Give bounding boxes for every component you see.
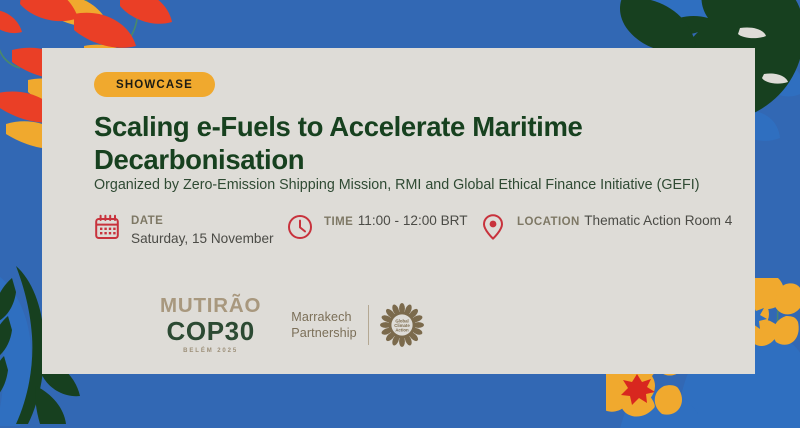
event-card: SHOWCASE Scaling e-Fuels to Accelerate M…: [42, 48, 755, 374]
mutirao-wordmark: MUTIRÃO: [160, 296, 261, 317]
page-title: Scaling e-Fuels to Accelerate Maritime D…: [94, 111, 709, 176]
belem-2025-text: BELÉM 2025: [160, 348, 261, 354]
global-climate-action-seal-icon: Global Climate Action: [380, 303, 424, 347]
meta-label-location: LOCATION: [517, 216, 580, 228]
status-badge: SHOWCASE: [94, 72, 215, 97]
organizer-text: Organized by Zero-Emission Shipping Miss…: [94, 176, 754, 195]
marrakech-line-1: Marrakech: [291, 309, 357, 325]
title-line-2: Decarbonisation: [94, 144, 304, 175]
meta-item-time: TIME 11:00 - 12:00 BRT: [285, 210, 478, 243]
clock-icon: [285, 211, 315, 243]
seal-line-3: Action: [395, 328, 409, 333]
cop30-wordmark: COP30: [160, 318, 261, 346]
event-banner: SHOWCASE Scaling e-Fuels to Accelerate M…: [0, 0, 800, 418]
meta-value-location: Thematic Action Room 4: [584, 213, 732, 228]
meta-value-date: Saturday, 15 November: [131, 231, 274, 246]
marrakech-partnership-logo: Marrakech Partnership: [291, 303, 424, 347]
calendar-icon: [92, 211, 122, 243]
event-meta-row: DATE Saturday, 15 November TIME 11:00 - …: [92, 210, 742, 248]
badge-label: SHOWCASE: [116, 79, 193, 91]
logo-row: MUTIRÃO COP30 BELÉM 2025 Marrakech Partn…: [160, 296, 424, 354]
meta-value-time: 11:00 - 12:00 BRT: [358, 213, 468, 228]
meta-item-date: DATE Saturday, 15 November: [92, 210, 285, 248]
location-pin-icon: [478, 211, 508, 243]
logo-divider: [368, 305, 369, 345]
mutirao-cop30-logo: MUTIRÃO COP30 BELÉM 2025: [160, 296, 261, 354]
meta-label-date: DATE: [131, 215, 163, 227]
meta-label-time: TIME: [324, 216, 353, 228]
title-line-1: Scaling e-Fuels to Accelerate Maritime: [94, 111, 583, 142]
meta-item-location: LOCATION Thematic Action Room 4: [478, 210, 732, 243]
marrakech-line-2: Partnership: [291, 325, 357, 341]
